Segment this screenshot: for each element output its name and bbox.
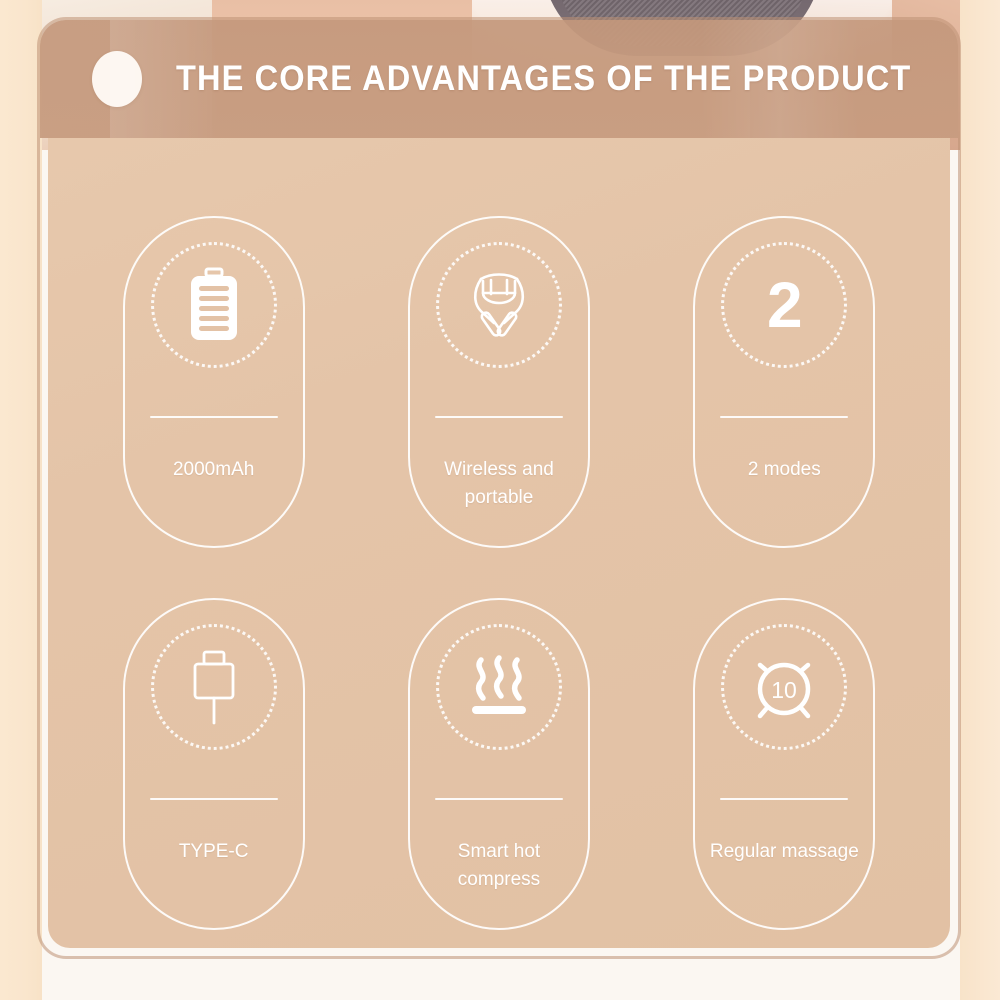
feature-label: Smart hot compress xyxy=(424,838,574,894)
product-feature-infographic: THE CORE ADVANTAGES OF THE PRODUCT xyxy=(0,0,1000,1000)
feature-card-hot-compress[interactable]: Smart hot compress xyxy=(408,598,590,930)
scarf-massager-icon xyxy=(460,266,538,344)
feature-card-typec[interactable]: TYPE-C xyxy=(123,598,305,930)
feature-label: TYPE-C xyxy=(139,838,289,866)
left-background-strip xyxy=(0,0,42,1000)
card-divider xyxy=(150,798,278,800)
feature-label: 2000mAh xyxy=(139,456,289,484)
icon-ring xyxy=(436,242,562,368)
number-2-icon: 2 xyxy=(745,266,823,344)
page-title: THE CORE ADVANTAGES OF THE PRODUCT xyxy=(176,59,911,99)
icon-ring xyxy=(151,242,277,368)
feature-grid: 2000mAh xyxy=(48,138,950,948)
card-divider xyxy=(435,416,563,418)
feature-card-modes[interactable]: 2 2 modes xyxy=(693,216,875,548)
feature-card-battery[interactable]: 2000mAh xyxy=(123,216,305,548)
mode-count: 2 xyxy=(767,273,802,337)
feature-card-regular-massage[interactable]: 10 Regular massage xyxy=(693,598,875,930)
icon-ring xyxy=(151,624,277,750)
card-divider xyxy=(720,416,848,418)
battery-icon xyxy=(175,266,253,344)
feature-label: Regular massage xyxy=(709,838,859,866)
icon-ring: 2 xyxy=(721,242,847,368)
card-divider xyxy=(435,798,563,800)
heat-waves-icon xyxy=(460,648,538,726)
advantages-panel: THE CORE ADVANTAGES OF THE PRODUCT xyxy=(40,20,958,956)
panel-body: 2000mAh xyxy=(48,138,950,948)
massage-duration-number: 10 xyxy=(772,677,798,703)
card-divider xyxy=(720,798,848,800)
feature-label: Wireless and portable xyxy=(424,456,574,512)
feature-card-wireless[interactable]: Wireless and portable xyxy=(408,216,590,548)
icon-ring xyxy=(436,624,562,750)
card-divider xyxy=(150,416,278,418)
icon-ring: 10 xyxy=(721,624,847,750)
alarm-clock-icon: 10 xyxy=(745,648,823,726)
feature-label: 2 modes xyxy=(709,456,859,484)
panel-header: THE CORE ADVANTAGES OF THE PRODUCT xyxy=(40,20,958,138)
right-background-strip xyxy=(960,0,1000,1000)
usb-type-c-plug-icon xyxy=(175,648,253,726)
